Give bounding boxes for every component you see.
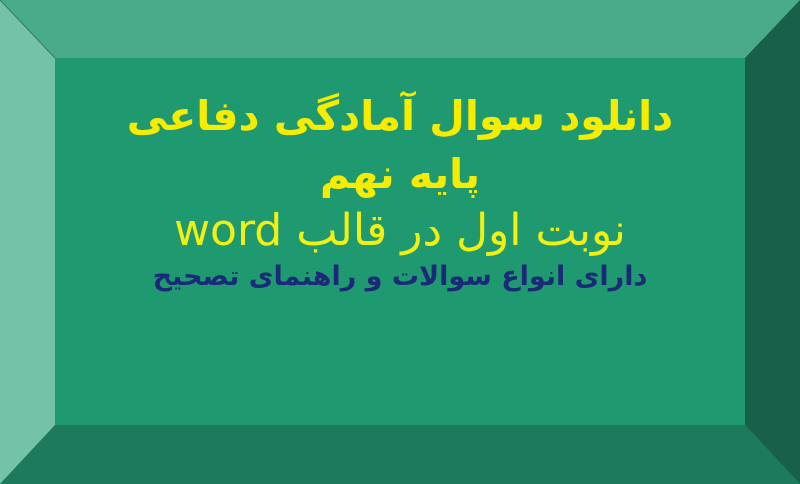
promo-banner: دانلود سوال آمادگی دفاعی پایه نهم نوبت ا…: [0, 0, 800, 484]
banner-text-stack: دانلود سوال آمادگی دفاعی پایه نهم نوبت ا…: [0, 0, 800, 484]
title-line-1: دانلود سوال آمادگی دفاعی: [0, 96, 800, 137]
title-line-2: پایه نهم: [0, 154, 800, 195]
title-line-3-format: نوبت اول در قالب word: [0, 209, 800, 253]
subtitle-line-4: دارای انواع سوالات و راهنمای تصحیح: [0, 263, 800, 290]
